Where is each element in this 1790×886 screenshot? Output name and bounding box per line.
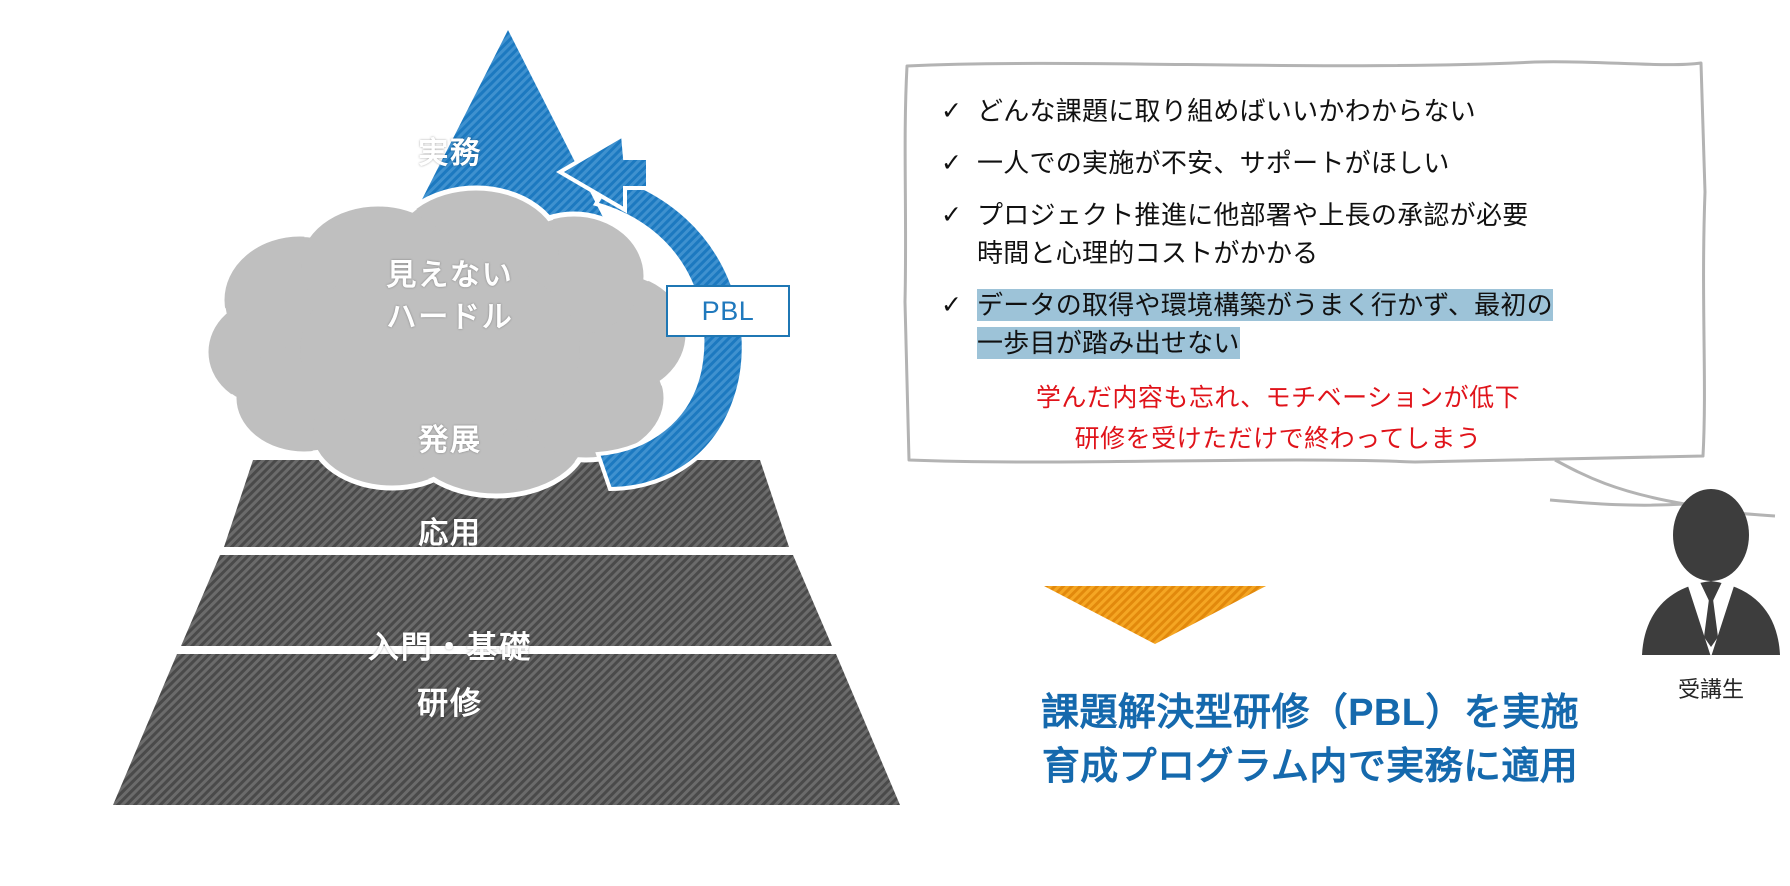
student-person-icon: [1636, 487, 1786, 667]
bullet-text: プロジェクト推進に他部署や上長の承認が必要時間と心理的コストがかかる: [977, 196, 1528, 272]
bullet-item-highlighted: ✓ データの取得や環境構築がうまく行かず、最初の一歩目が踏み出せない: [941, 286, 1685, 362]
headline-text: 課題解決型研修（PBL）を実施 育成プログラム内で実務に適用: [900, 686, 1720, 794]
speech-bubble: ✓ どんな課題に取り組めばいいかわからない ✓ 一人での実施が不安、サポートがほ…: [905, 62, 1705, 462]
check-icon: ✓: [941, 92, 977, 130]
orange-down-arrow-icon: [1040, 582, 1270, 662]
warning-line-1: 学んだ内容も忘れ、モチベーションが低下: [941, 378, 1615, 419]
bullet-text: 一人での実施が不安、サポートがほしい: [977, 144, 1450, 182]
slide-canvas: 実務 見えない ハードル 発展 応用 入門・基礎 研修 PBL ✓ どんな課題に…: [0, 0, 1790, 886]
tier-oyou-shape: [181, 555, 832, 646]
pbl-label: PBL: [702, 296, 755, 327]
bullet-item: ✓ どんな課題に取り組めばいいかわからない: [941, 92, 1685, 130]
headline-line-1: 課題解決型研修（PBL）を実施: [900, 686, 1720, 740]
warning-message: 学んだ内容も忘れ、モチベーションが低下 研修を受けただけで終わってしまう: [941, 378, 1685, 460]
bullet-text-highlighted: データの取得や環境構築がうまく行かず、最初の一歩目が踏み出せない: [977, 286, 1553, 362]
tier-nyumon-shape: [113, 654, 900, 805]
warning-line-2: 研修を受けただけで終わってしまう: [941, 419, 1615, 460]
headline-line-2: 育成プログラム内で実務に適用: [900, 740, 1720, 794]
bullet-item: ✓ 一人での実施が不安、サポートがほしい: [941, 144, 1685, 182]
bullet-text: どんな課題に取り組めばいいかわからない: [977, 92, 1476, 130]
check-icon: ✓: [941, 196, 977, 234]
check-icon: ✓: [941, 144, 977, 182]
bullet-item: ✓ プロジェクト推進に他部署や上長の承認が必要時間と心理的コストがかかる: [941, 196, 1685, 272]
pbl-callout-box[interactable]: PBL: [666, 285, 790, 337]
check-icon: ✓: [941, 286, 977, 324]
pyramid-svg: [0, 0, 900, 886]
pyramid-diagram: 実務 見えない ハードル 発展 応用 入門・基礎 研修: [0, 0, 900, 886]
speech-bubble-content: ✓ どんな課題に取り組めばいいかわからない ✓ 一人での実施が不安、サポートがほ…: [941, 92, 1685, 460]
